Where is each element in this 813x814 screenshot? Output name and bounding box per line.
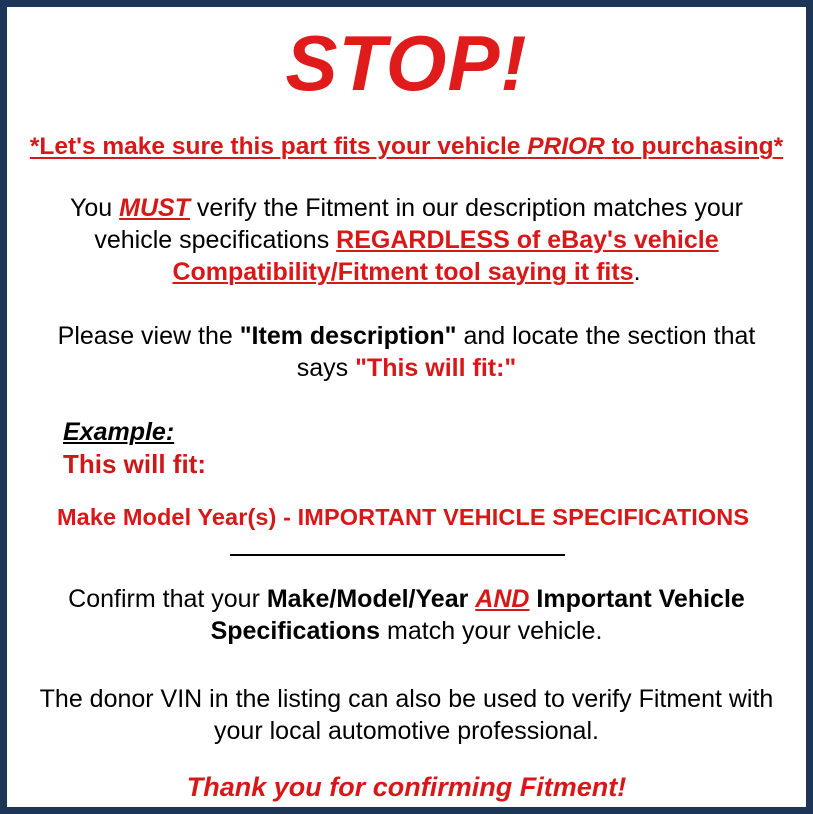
example-fit-heading: This will fit: — [63, 449, 798, 479]
subtitle-text-after: to purchasing* — [605, 133, 783, 160]
subtitle-text-before: *Let's make sure this part fits your veh… — [30, 133, 527, 160]
p3-segment-1: Confirm that your — [68, 585, 267, 613]
red-this-will-fit-quote: "This will fit:" — [355, 354, 516, 382]
p2-segment-1: Please view the — [58, 322, 240, 350]
bold-item-description: "Item description" — [240, 322, 457, 350]
emphasis-and: AND — [475, 585, 529, 613]
page-title: STOP! — [15, 20, 798, 106]
paragraph-verify-fitment: You MUST verify the Fitment in our descr… — [15, 192, 798, 288]
example-label: Example: — [63, 418, 174, 446]
section-divider — [15, 554, 798, 557]
paragraph-confirm-specs: Confirm that your Make/Model/Year AND Im… — [15, 583, 798, 647]
subtitle-emphasis-prior: PRIOR — [527, 133, 605, 160]
closing-thank-you: Thank you for confirming Fitment! — [15, 771, 798, 803]
example-block: Example: This will fit: Make Model Year(… — [15, 418, 798, 531]
paragraph-donor-vin: The donor VIN in the listing can also be… — [15, 683, 798, 747]
p3-segment-4: match your vehicle. — [380, 617, 602, 645]
p1-segment-3: . — [634, 258, 641, 286]
example-spec-line: Make Model Year(s) - IMPORTANT VEHICLE S… — [57, 503, 798, 531]
subtitle-banner: *Let's make sure this part fits your veh… — [15, 132, 798, 162]
fitment-notice-card: STOP! *Let's make sure this part fits yo… — [0, 0, 813, 814]
bold-make-model-year: Make/Model/Year — [267, 585, 468, 613]
emphasis-must: MUST — [119, 194, 190, 222]
notice-content: STOP! *Let's make sure this part fits yo… — [7, 7, 806, 803]
p1-segment-1: You — [70, 194, 119, 222]
divider-rule — [230, 554, 565, 556]
paragraph-item-description: Please view the "Item description" and l… — [15, 320, 798, 384]
